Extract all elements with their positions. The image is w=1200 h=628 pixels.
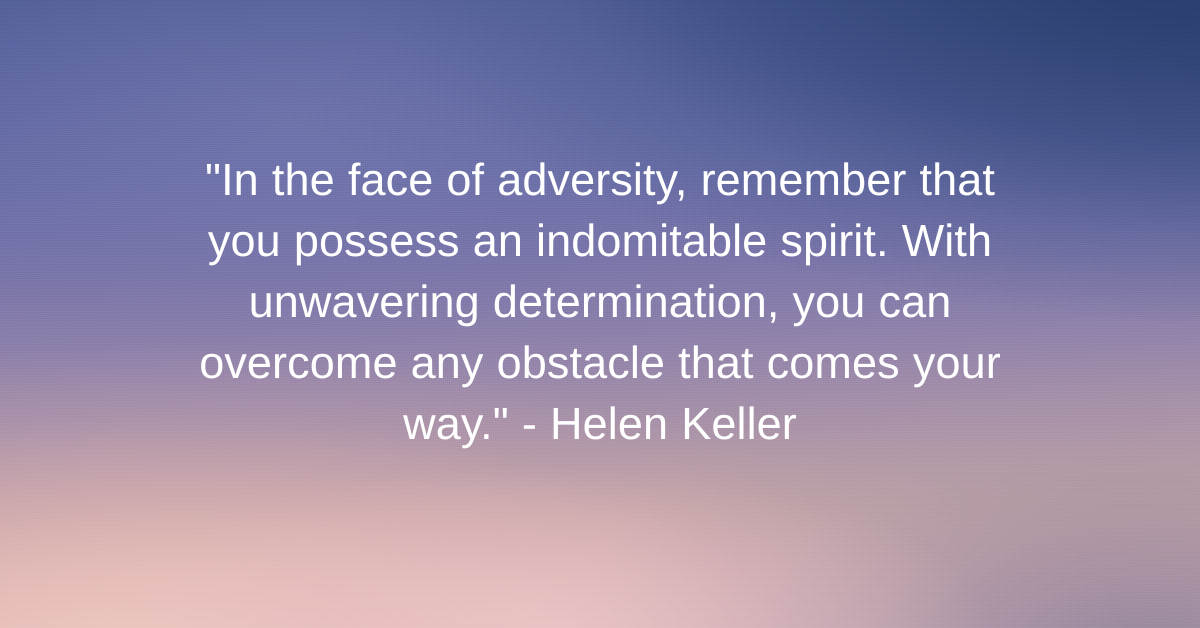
quote-block: "In the face of adversity, remember that… <box>160 149 1040 480</box>
quote-text: "In the face of adversity, remember that… <box>170 149 1030 454</box>
quote-layer: "In the face of adversity, remember that… <box>0 0 1200 628</box>
quote-card: "In the face of adversity, remember that… <box>0 0 1200 628</box>
